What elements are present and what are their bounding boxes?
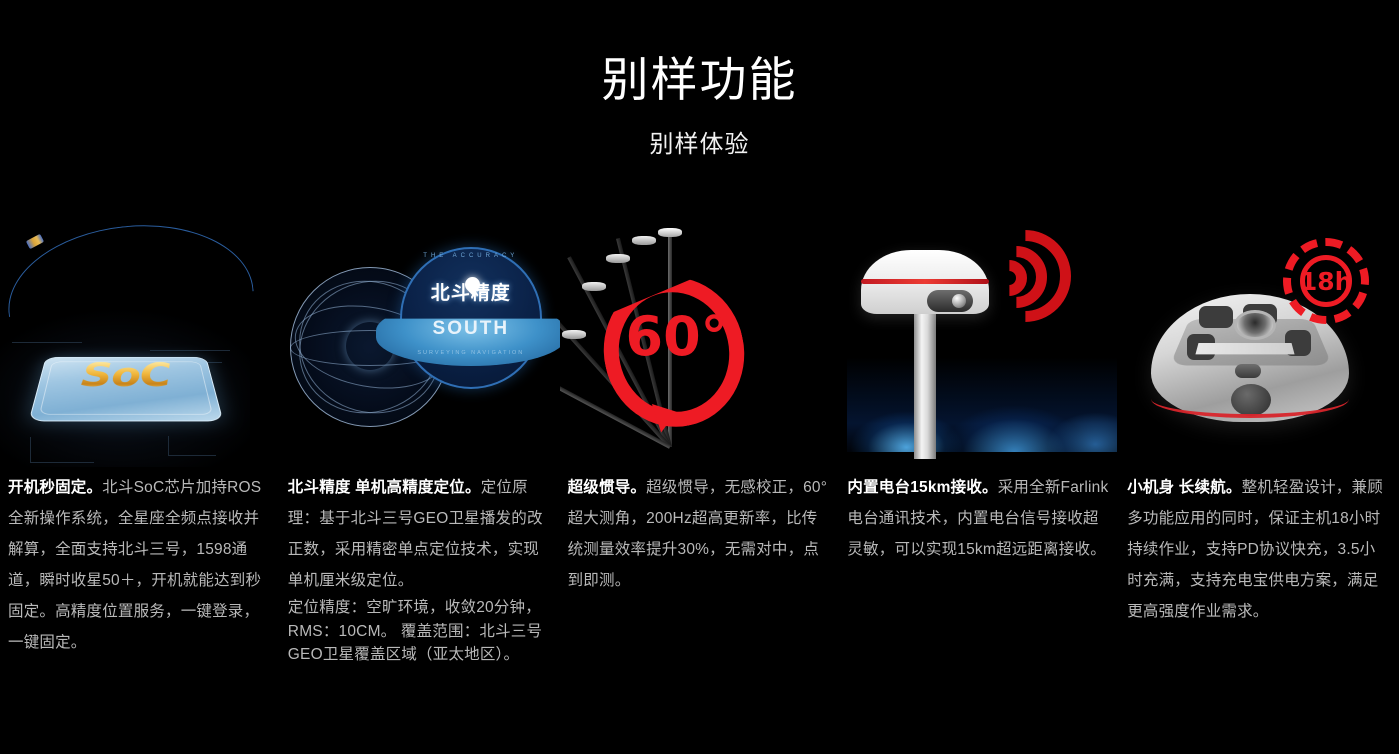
circuit-trace: [12, 342, 82, 343]
receiver-red-ring: [1151, 380, 1349, 418]
antenna-head-icon: [562, 330, 586, 339]
angle-label: 60°: [612, 310, 742, 364]
receiver-red-stripe: [861, 279, 989, 284]
battery-life-badge: 18h: [1283, 238, 1369, 324]
feature-column-soc: SoC 开机秒固定。北斗SoC芯片加持ROS全新操作系统，全星座全频点接收并解算…: [0, 222, 280, 754]
receiver-port: [1235, 364, 1261, 378]
circuit-trace: [168, 436, 169, 456]
feature-heading: 北斗精度 单机高精度定位。: [288, 479, 481, 496]
badge-brand-label: SOUTH: [400, 319, 542, 338]
antenna-head-icon: [582, 282, 606, 291]
page-title: 别样功能: [0, 52, 1399, 108]
tilt-60-degree-illustration: 60°: [560, 222, 840, 472]
antenna-head-icon: [658, 228, 682, 237]
feature-columns: SoC 开机秒固定。北斗SoC芯片加持ROS全新操作系统，全星座全频点接收并解算…: [0, 222, 1399, 754]
camera-lens-icon: [952, 294, 966, 308]
circuit-trace: [168, 455, 216, 456]
feature-heading: 内置电台15km接收。: [847, 479, 997, 496]
feature-caption: 开机秒固定。北斗SoC芯片加持ROS全新操作系统，全星座全频点接收并解算，全面支…: [0, 472, 280, 658]
receiver-pole: [914, 314, 936, 459]
feature-body-secondary: 定位精度：空旷环境，收敛20分钟，RMS：10CM。 覆盖范围：北斗三号GEO卫…: [288, 596, 550, 667]
feature-heading: 超级惯导。: [568, 479, 647, 496]
radio-signal-arc-icon: [979, 230, 1071, 322]
battery-badge-label: 18h: [1300, 269, 1353, 294]
badge-arc-top-text: THE ACCURACY: [400, 253, 542, 259]
feature-heading: 小机身 长续航。: [1127, 479, 1241, 496]
antenna-head-icon: [606, 254, 630, 263]
feature-caption: 小机身 长续航。整机轻盈设计，兼顾多功能应用的同时，保证主机18小时持续作业，支…: [1119, 472, 1399, 627]
soc-chip-label: SoC: [34, 360, 217, 393]
beidou-constellation-badge-illustration: THE ACCURACY 北斗精度 SOUTH SURVEYING NAVIGA…: [280, 222, 560, 472]
soc-chip-illustration: SoC: [0, 222, 280, 472]
badge-arc-bottom-text: SURVEYING NAVIGATION: [400, 350, 542, 356]
feature-caption: 北斗精度 单机高精度定位。定位原理：基于北斗三号GEO卫星播发的改正数，采用精密…: [280, 472, 560, 667]
receiver-pad: [1199, 306, 1233, 328]
receiver-base-battery-illustration: 18h: [1119, 222, 1399, 472]
tripod-thread-mount: [1234, 310, 1276, 340]
feature-caption: 内置电台15km接收。采用全新Farlink电台通讯技术，内置电台信号接收超灵敏…: [839, 472, 1119, 565]
receiver-camera-module: [927, 290, 973, 312]
feature-column-beidou-accuracy: THE ACCURACY 北斗精度 SOUTH SURVEYING NAVIGA…: [280, 222, 560, 754]
blue-wave-backdrop: [847, 357, 1117, 452]
battery-badge-inner-ring: 18h: [1300, 255, 1352, 307]
gnss-receiver-radio-illustration: [839, 222, 1119, 472]
feature-body: 北斗SoC芯片加持ROS全新操作系统，全星座全频点接收并解算，全面支持北斗三号，…: [8, 479, 261, 651]
circuit-trace: [150, 350, 230, 351]
feature-body: 整机轻盈设计，兼顾多功能应用的同时，保证主机18小时持续作业，支持PD协议快充，…: [1127, 479, 1383, 620]
antenna-head-icon: [632, 236, 656, 245]
feature-caption: 超级惯导。超级惯导，无感校正，60°超大测角，200Hz超高更新率，比传统测量效…: [560, 472, 840, 596]
feature-heading: 开机秒固定。: [8, 479, 102, 496]
circuit-trace: [30, 437, 31, 463]
section-heading: 别样功能 别样体验: [0, 0, 1399, 160]
page-subtitle: 别样体验: [0, 130, 1399, 160]
feature-column-tilt: 60° 超级惯导。超级惯导，无感校正，60°超大测角，200Hz超高更新率，比传…: [560, 222, 840, 754]
feature-column-battery: 18h 小机身 长续航。整机轻盈设计，兼顾多功能应用的同时，保证主机18小时持续…: [1119, 222, 1399, 754]
feature-section: 别样功能 别样体验 SoC 开机秒固定。北斗: [0, 0, 1399, 754]
circuit-trace: [30, 462, 94, 463]
product-label: [1196, 343, 1295, 354]
feature-column-radio: 内置电台15km接收。采用全新Farlink电台通讯技术，内置电台信号接收超灵敏…: [839, 222, 1119, 754]
